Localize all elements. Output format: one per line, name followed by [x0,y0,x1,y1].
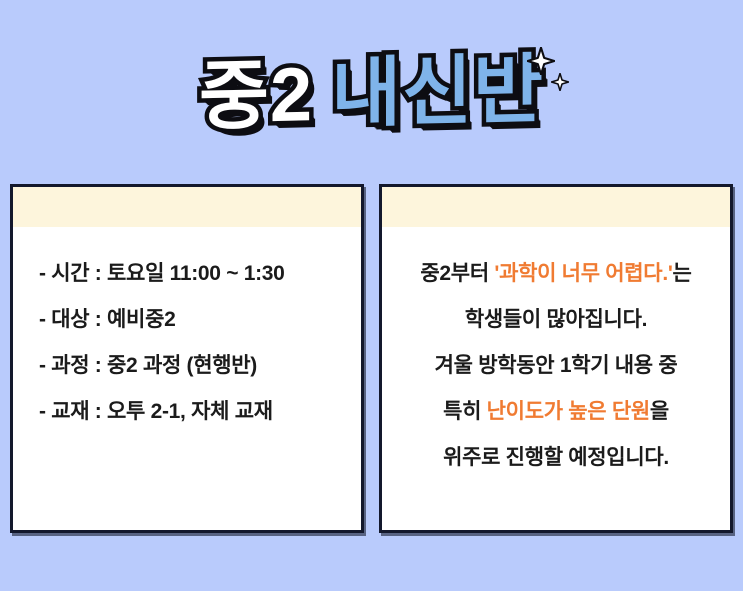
title-segment-grade: 중2 [199,57,313,135]
course-description-card: 중2부터 '과학이 너무 어렵다.'는 학생들이 많아집니다. 겨울 방학동안 … [379,184,733,533]
text-highlight: '과학이 너무 어렵다.' [494,262,672,285]
course-info-card: - 시간 : 토요일 11:00 ~ 1:30 - 대상 : 예비중2 - 과정… [10,184,364,533]
list-item: - 시간 : 토요일 11:00 ~ 1:30 [39,251,361,297]
card-header-band [382,187,730,227]
card-header-band [13,187,361,227]
text-plain: 는 [673,262,692,285]
text-plain: 특히 [443,400,487,423]
text-highlight: 난이도가 높은 단원 [487,400,650,423]
page-title: 중2 내신반 [0,44,743,144]
description-text: 중2부터 '과학이 너무 어렵다.'는 학생들이 많아집니다. 겨울 방학동안 … [382,251,730,481]
list-item: - 교재 : 오투 2-1, 자체 교재 [39,389,361,435]
description-line: 학생들이 많아집니다. [392,297,720,343]
text-plain: 중2부터 [420,262,494,285]
title-text: 중2 내신반 [199,52,544,135]
title-segment-class: 내신반 [331,52,544,132]
card-body: 중2부터 '과학이 너무 어렵다.'는 학생들이 많아집니다. 겨울 방학동안 … [382,227,730,530]
cards-container: - 시간 : 토요일 11:00 ~ 1:30 - 대상 : 예비중2 - 과정… [0,184,743,534]
card-body: - 시간 : 토요일 11:00 ~ 1:30 - 대상 : 예비중2 - 과정… [13,227,361,530]
text-plain: 을 [650,400,669,423]
description-line: 위주로 진행할 예정입니다. [392,435,720,481]
course-info-list: - 시간 : 토요일 11:00 ~ 1:30 - 대상 : 예비중2 - 과정… [13,251,361,435]
description-line: 중2부터 '과학이 너무 어렵다.'는 [392,251,720,297]
description-line: 겨울 방학동안 1학기 내용 중 [392,343,720,389]
list-item: - 대상 : 예비중2 [39,297,361,343]
list-item: - 과정 : 중2 과정 (현행반) [39,343,361,389]
description-line: 특히 난이도가 높은 단원을 [392,389,720,435]
